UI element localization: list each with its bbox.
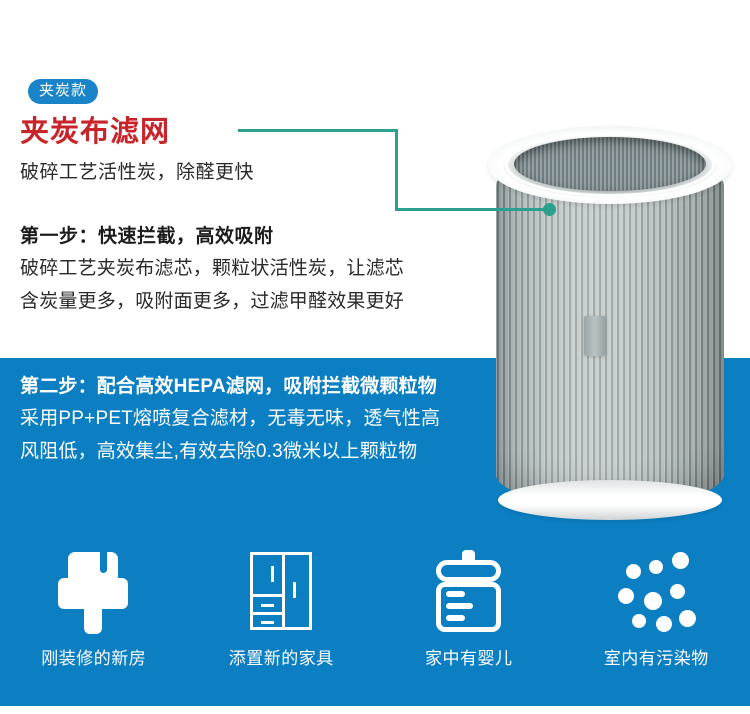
product-filter-image <box>488 126 736 520</box>
filter-top-ring <box>505 132 715 197</box>
callout-line-horizontal-top <box>238 129 398 132</box>
usecase-item-new-renovation: 刚装修的新房 <box>0 548 188 670</box>
step-two-line-1: 采用PP+PET熔喷复合滤材，无毒无味，透气性高 <box>20 402 490 435</box>
particle-dot <box>679 610 696 627</box>
step-one-line-1: 破碎工艺夹炭布滤芯，颗粒状活性炭，让滤芯 <box>20 252 470 285</box>
wardrobe-frame-shape <box>250 552 312 630</box>
step-two-block: 第二步：配合高效HEPA滤网，吸附拦截微颗粒物 采用PP+PET熔喷复合滤材，无… <box>20 371 490 468</box>
particle-dot <box>632 614 646 628</box>
usecase-label: 室内有污染物 <box>604 648 709 670</box>
step-one-line-2: 含炭量更多，吸附面更多，过滤甲醛效果更好 <box>20 285 470 318</box>
bottle-collar-shape <box>436 560 501 582</box>
particle-dot <box>644 592 662 610</box>
particle-dot <box>626 564 641 579</box>
brush-notch-shape <box>100 552 107 573</box>
usecase-item-new-furniture: 添置新的家具 <box>188 548 376 670</box>
wardrobe-handle-1-shape <box>271 566 274 582</box>
particles-icon <box>608 548 704 634</box>
callout-line-horizontal-bottom <box>395 208 550 211</box>
wardrobe-handle-4-shape <box>261 621 274 624</box>
usecase-label: 刚装修的新房 <box>41 648 146 670</box>
step-one-heading: 第一步：快速拦截，高效吸附 <box>20 222 470 252</box>
usecase-label: 添置新的家具 <box>229 648 334 670</box>
usecase-item-indoor-pollutants: 室内有污染物 <box>563 548 750 670</box>
page-title: 夹炭布滤网 <box>20 115 170 149</box>
usecase-item-baby-at-home: 家中有婴儿 <box>375 548 563 670</box>
baby-bottle-icon <box>421 548 517 634</box>
bottle-marking-1-shape <box>446 591 465 597</box>
bottom-white-strip <box>0 706 750 714</box>
callout-dot-icon <box>543 203 556 216</box>
wardrobe-divider-shape <box>282 552 285 630</box>
step-two-heading: 第二步：配合高效HEPA滤网，吸附拦截微颗粒物 <box>20 371 490 402</box>
bottle-marking-2-shape <box>446 603 473 609</box>
brush-handle-shape <box>84 604 102 634</box>
product-infographic: 夹炭款 夹炭布滤网 破碎工艺活性炭，除醛更快 第一步：快速拦截，高效吸附 破碎工… <box>0 0 750 714</box>
wardrobe-handle-2-shape <box>293 582 296 598</box>
wardrobe-icon <box>233 548 329 634</box>
particle-dot <box>670 584 685 599</box>
callout-line-vertical <box>395 129 398 211</box>
page-subtitle: 破碎工艺活性炭，除醛更快 <box>20 160 254 186</box>
paint-brush-icon <box>46 548 142 634</box>
variant-badge: 夹炭款 <box>28 79 98 104</box>
particle-dot <box>656 616 672 632</box>
wardrobe-handle-3-shape <box>261 604 274 607</box>
particle-dot <box>618 588 634 604</box>
usecase-label: 家中有婴儿 <box>425 648 513 670</box>
step-one-block: 第一步：快速拦截，高效吸附 破碎工艺夹炭布滤芯，颗粒状活性炭，让滤芯 含炭量更多… <box>20 222 470 318</box>
usecase-row: 刚装修的新房 添置新的家具 <box>0 548 750 670</box>
particle-dot <box>672 552 689 569</box>
filter-body <box>496 154 724 506</box>
bottle-marking-3-shape <box>446 615 465 621</box>
filter-bottom-rim <box>498 480 722 520</box>
filter-pull-tab <box>584 316 606 356</box>
particle-dot <box>649 560 663 574</box>
wardrobe-shelf-2-shape <box>250 612 285 615</box>
step-two-line-2: 风阻低，高效集尘,有效去除0.3微米以上颗粒物 <box>20 435 490 468</box>
wardrobe-shelf-1-shape <box>250 594 285 597</box>
